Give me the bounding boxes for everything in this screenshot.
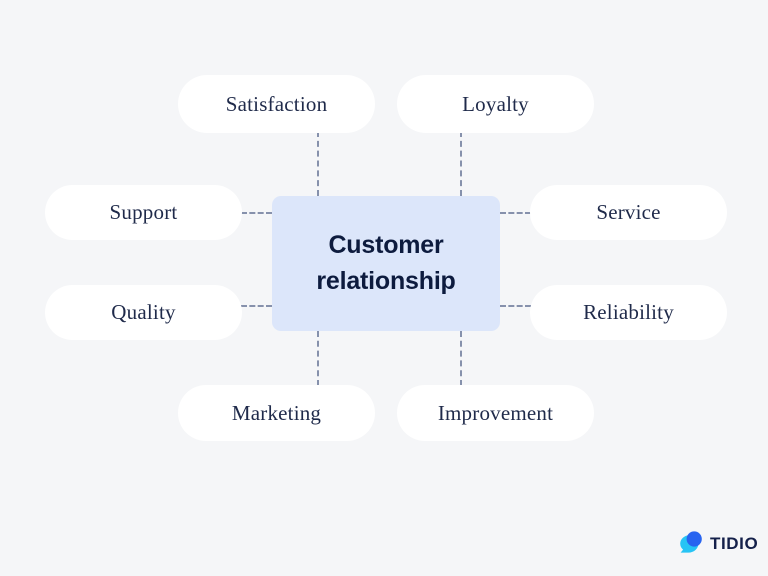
node-reliability[interactable]: Reliability	[530, 285, 727, 340]
connector-center-to-reliability	[500, 305, 531, 307]
node-improvement-label: Improvement	[438, 401, 553, 426]
connector-center-to-quality	[241, 305, 272, 307]
connector-center-to-loyalty	[460, 131, 462, 196]
node-improvement[interactable]: Improvement	[397, 385, 594, 441]
node-quality-label: Quality	[111, 300, 175, 325]
connector-center-to-support	[241, 212, 272, 214]
node-marketing[interactable]: Marketing	[178, 385, 375, 441]
diagram-canvas: Customer relationship Satisfaction Loyal…	[0, 0, 768, 576]
node-loyalty[interactable]: Loyalty	[397, 75, 594, 133]
node-satisfaction-label: Satisfaction	[226, 92, 328, 117]
node-support[interactable]: Support	[45, 185, 242, 240]
node-quality[interactable]: Quality	[45, 285, 242, 340]
tidio-logo: TIDIO	[678, 531, 758, 557]
center-node-customer-relationship[interactable]: Customer relationship	[272, 196, 500, 331]
node-loyalty-label: Loyalty	[462, 92, 529, 117]
node-marketing-label: Marketing	[232, 401, 321, 426]
connector-center-to-marketing	[317, 331, 319, 386]
tidio-bubble-icon	[678, 530, 704, 559]
connector-center-to-improvement	[460, 331, 462, 386]
center-node-label: Customer relationship	[316, 228, 455, 299]
node-service-label: Service	[596, 200, 660, 225]
node-service[interactable]: Service	[530, 185, 727, 240]
node-reliability-label: Reliability	[583, 300, 674, 325]
node-satisfaction[interactable]: Satisfaction	[178, 75, 375, 133]
connector-center-to-satisfaction	[317, 131, 319, 196]
tidio-wordmark: TIDIO	[710, 534, 758, 554]
connector-center-to-service	[500, 212, 531, 214]
node-support-label: Support	[110, 200, 178, 225]
